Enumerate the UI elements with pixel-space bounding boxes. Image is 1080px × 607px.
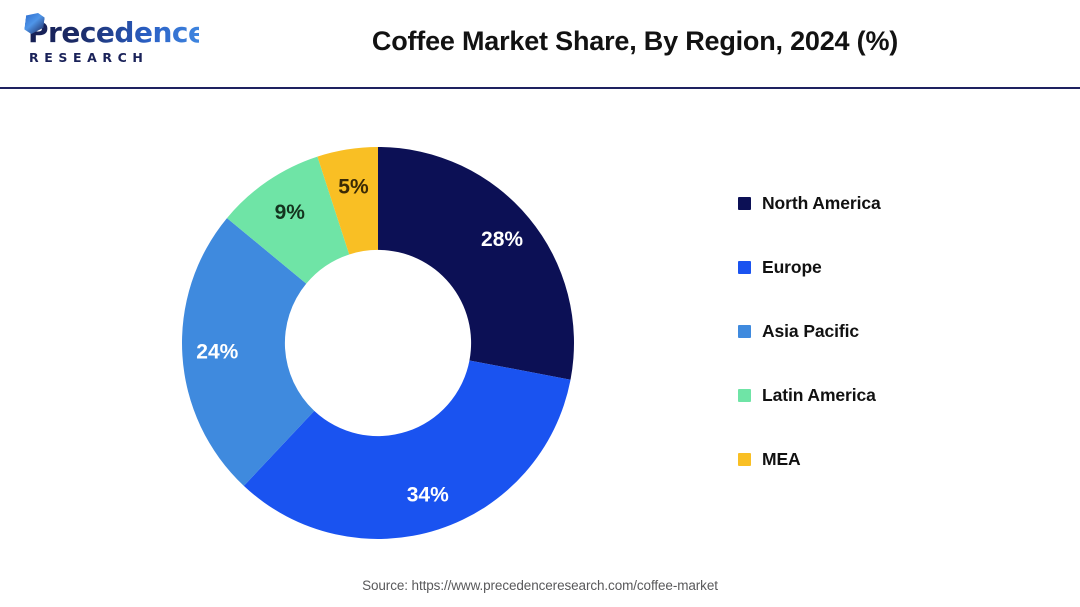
legend-label-europe: Europe [762,257,822,278]
legend-item-mea[interactable]: MEA [738,446,1058,472]
slice-label-mea: 5% [338,176,369,199]
legend-label-mea: MEA [762,449,801,470]
legend-swatch-latin-america [738,389,751,402]
slice-label-europe: 34% [407,484,449,507]
donut-chart: 28%34%24%9%5% [0,95,720,560]
legend-item-latin-america[interactable]: Latin America [738,382,1058,408]
donut-chart-svg: 28%34%24%9%5% [0,95,720,560]
legend-item-europe[interactable]: Europe [738,254,1058,280]
legend-label-latin-america: Latin America [762,385,876,406]
chart-header: Precedence RESEARCH Coffee Market Share,… [0,0,1080,88]
legend-swatch-mea [738,453,751,466]
page-title: Coffee Market Share, By Region, 2024 (%) [200,26,1070,57]
legend-item-asia-pacific[interactable]: Asia Pacific [738,318,1058,344]
header-divider [0,87,1080,89]
legend-swatch-north-america [738,197,751,210]
slice-label-north-america: 28% [481,228,523,251]
legend-label-asia-pacific: Asia Pacific [762,321,859,342]
slice-label-asia-pacific: 24% [196,341,238,364]
precedence-research-logo: Precedence RESEARCH [14,18,199,74]
legend-swatch-asia-pacific [738,325,751,338]
legend-item-north-america[interactable]: North America [738,190,1058,216]
slice-label-latin-america: 9% [275,201,306,224]
logo-subtitle: RESEARCH [14,49,199,67]
source-caption: Source: https://www.precedenceresearch.c… [0,578,1080,593]
legend-swatch-europe [738,261,751,274]
legend-label-north-america: North America [762,193,881,214]
chart-legend: North America Europe Asia Pacific Latin … [738,190,1058,472]
donut-slice-north-america[interactable] [378,147,574,380]
